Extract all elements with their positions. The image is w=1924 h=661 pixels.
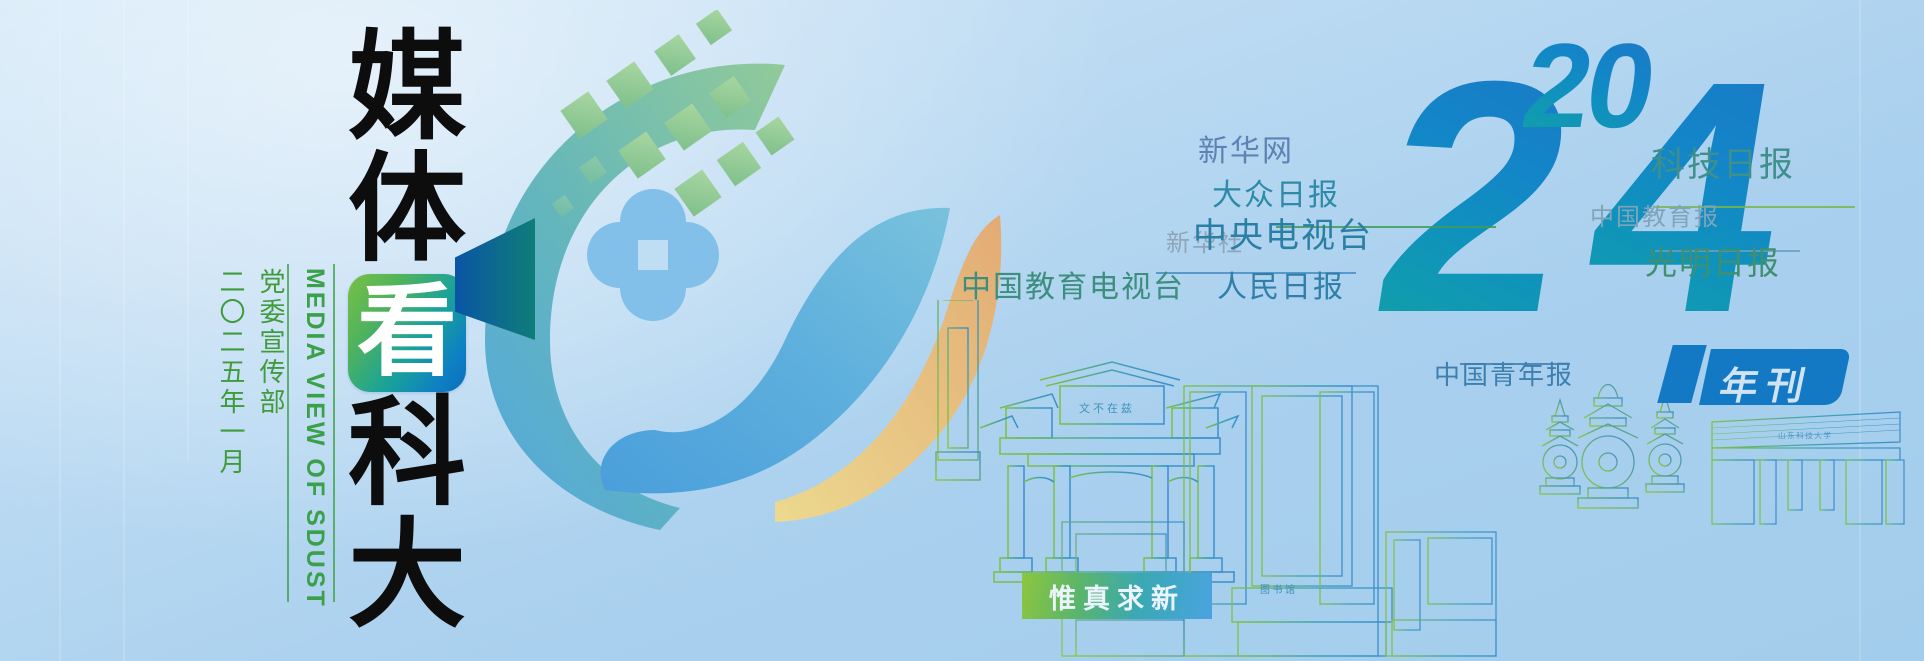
ribbon-label: 年刊 [1715, 355, 1847, 410]
motto-plaque: 惟真求新 [1022, 573, 1212, 619]
annual-ribbon: 年刊 [1665, 345, 1845, 407]
year-prefix-20: 20 [1517, 38, 1658, 134]
tower-left [936, 300, 980, 480]
title-char-2: 体 [348, 152, 466, 270]
motto-text: 惟真求新 [1049, 577, 1185, 616]
title-char-1: 媒 [348, 30, 466, 148]
banner-root: 媒 体 看 科 大 MEDIA VIEW OF SDUST 党委宣传部 二〇二五… [0, 0, 1924, 661]
year-block: 2 4 20 年刊 [1380, 20, 1924, 440]
ribbon-tab [1657, 345, 1707, 403]
library-building [1184, 386, 1392, 656]
gate-plaque-text: 文不在兹 [1079, 401, 1135, 415]
library-label-text: 图书馆 [1260, 583, 1298, 596]
low-block-right [1386, 532, 1496, 656]
